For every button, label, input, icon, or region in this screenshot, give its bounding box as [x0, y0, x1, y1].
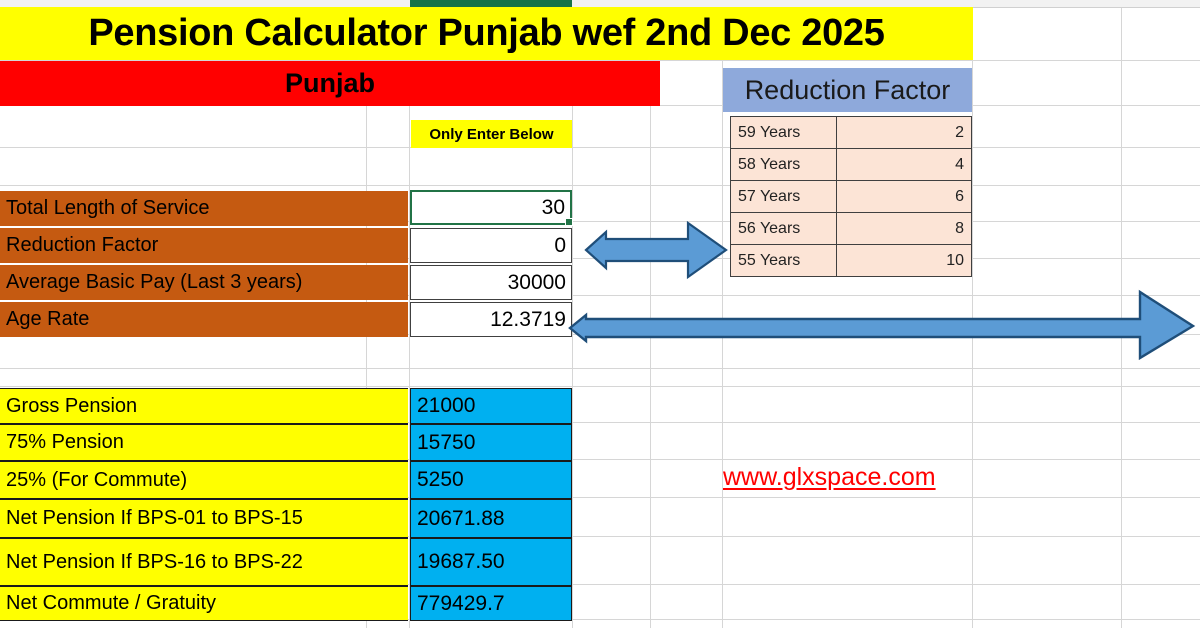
table-row: 56 Years 8	[731, 213, 972, 245]
reduction-factor-table: 59 Years 2 58 Years 4 57 Years 6 56 Year…	[730, 116, 972, 277]
table-row: 55 Years 10	[731, 245, 972, 277]
reduction-factor-age: 59 Years	[731, 117, 837, 149]
gridline-horizontal	[0, 368, 1200, 369]
input-label-average-basic-pay: Average Basic Pay (Last 3 years)	[0, 265, 408, 300]
result-label-net-pension-bps-01-15: Net Pension If BPS-01 to BPS-15	[0, 499, 408, 538]
input-field-reduction-factor[interactable]: 0	[410, 228, 572, 263]
result-label-75-percent-pension: 75% Pension	[0, 424, 408, 461]
result-label-25-percent-commute: 25% (For Commute)	[0, 461, 408, 499]
input-label-age-rate: Age Rate	[0, 302, 408, 337]
result-value-25-percent-commute: 5250	[410, 461, 572, 499]
gridline-horizontal	[0, 386, 1200, 387]
reduction-factor-header: Reduction Factor	[723, 68, 972, 112]
input-field-total-length-of-service[interactable]: 30	[410, 190, 572, 225]
website-link[interactable]: www.glxspace.com	[723, 463, 936, 492]
reduction-factor-value: 6	[837, 181, 972, 213]
right-arrow-icon-short	[584, 219, 728, 281]
reduction-factor-age: 58 Years	[731, 149, 837, 181]
page-title: Pension Calculator Punjab wef 2nd Dec 20…	[0, 7, 973, 60]
reduction-factor-value: 2	[837, 117, 972, 149]
input-field-age-rate[interactable]: 12.3719	[410, 302, 572, 337]
reduction-factor-value: 4	[837, 149, 972, 181]
input-field-average-basic-pay[interactable]: 30000	[410, 265, 572, 300]
right-arrow-icon-long	[568, 288, 1196, 360]
result-value-gross-pension: 21000	[410, 388, 572, 424]
result-value-75-percent-pension: 15750	[410, 424, 572, 461]
reduction-factor-age: 56 Years	[731, 213, 837, 245]
selected-column-indicator	[410, 0, 572, 7]
spreadsheet-canvas: Pension Calculator Punjab wef 2nd Dec 20…	[0, 0, 1200, 628]
only-enter-below-note: Only Enter Below	[411, 120, 572, 148]
result-value-net-commute-gratuity: 779429.7	[410, 586, 572, 621]
table-row: 59 Years 2	[731, 117, 972, 149]
result-label-gross-pension: Gross Pension	[0, 388, 408, 424]
input-label-reduction-factor: Reduction Factor	[0, 228, 408, 263]
result-label-net-pension-bps-16-22: Net Pension If BPS-16 to BPS-22	[0, 538, 408, 586]
reduction-factor-age: 57 Years	[731, 181, 837, 213]
result-value-net-pension-bps-01-15: 20671.88	[410, 499, 572, 538]
result-label-net-commute-gratuity: Net Commute / Gratuity	[0, 586, 408, 621]
gridline-horizontal	[0, 185, 1200, 186]
reduction-factor-value: 10	[837, 245, 972, 277]
province-band: Punjab	[0, 61, 660, 106]
reduction-factor-age: 55 Years	[731, 245, 837, 277]
table-row: 57 Years 6	[731, 181, 972, 213]
fill-handle[interactable]	[565, 218, 573, 226]
gridline-horizontal	[0, 147, 1200, 148]
reduction-factor-value: 8	[837, 213, 972, 245]
input-label-total-length-of-service: Total Length of Service	[0, 191, 408, 226]
table-row: 58 Years 4	[731, 149, 972, 181]
result-value-net-pension-bps-16-22: 19687.50	[410, 538, 572, 586]
